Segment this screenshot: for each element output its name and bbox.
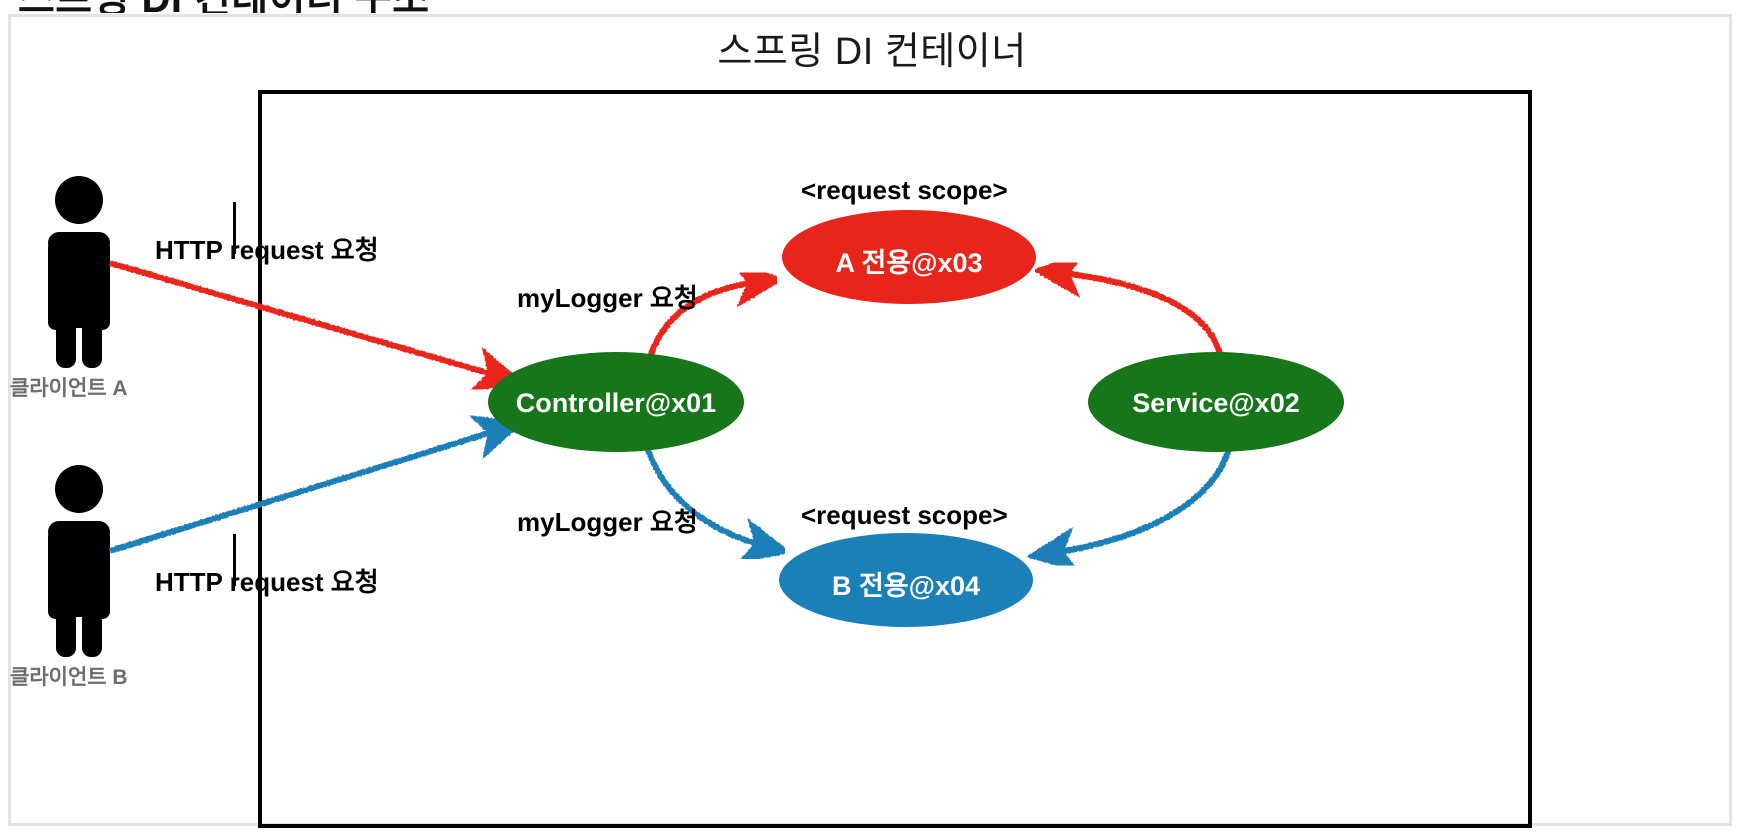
client-a-request-label: HTTP request 요청	[155, 230, 379, 267]
node-service-label: Service@x02	[1088, 388, 1344, 419]
client-b-request-label: HTTP request 요청	[155, 562, 379, 599]
diagram-title: 스프링 DI 컨테이너	[0, 20, 1744, 75]
cut-off-heading: 스프링 DI 컨테이너 구조	[18, 0, 430, 13]
client-b-label: 클라이언트 B	[10, 661, 128, 691]
edge-label-mylogger-a: myLogger 요청	[517, 278, 698, 315]
node-controller-label: Controller@x01	[488, 388, 744, 419]
scope-label-logger-b: <request scope>	[801, 500, 1008, 531]
edge-label-mylogger-b: myLogger 요청	[517, 502, 698, 539]
node-logger-b-label: B 전용@x04	[779, 564, 1033, 603]
scope-label-logger-a: <request scope>	[801, 175, 1008, 206]
node-logger-a-label: A 전용@x03	[782, 241, 1036, 280]
diagram-canvas: 스프링 DI 컨테이너 구조 스프링 DI 컨테이너	[0, 0, 1744, 840]
text-cursor-b	[233, 534, 236, 586]
cut-off-heading-strip: 스프링 DI 컨테이너 구조	[0, 0, 1744, 13]
client-a-label: 클라이언트 A	[10, 372, 128, 402]
text-cursor-a	[233, 202, 236, 254]
